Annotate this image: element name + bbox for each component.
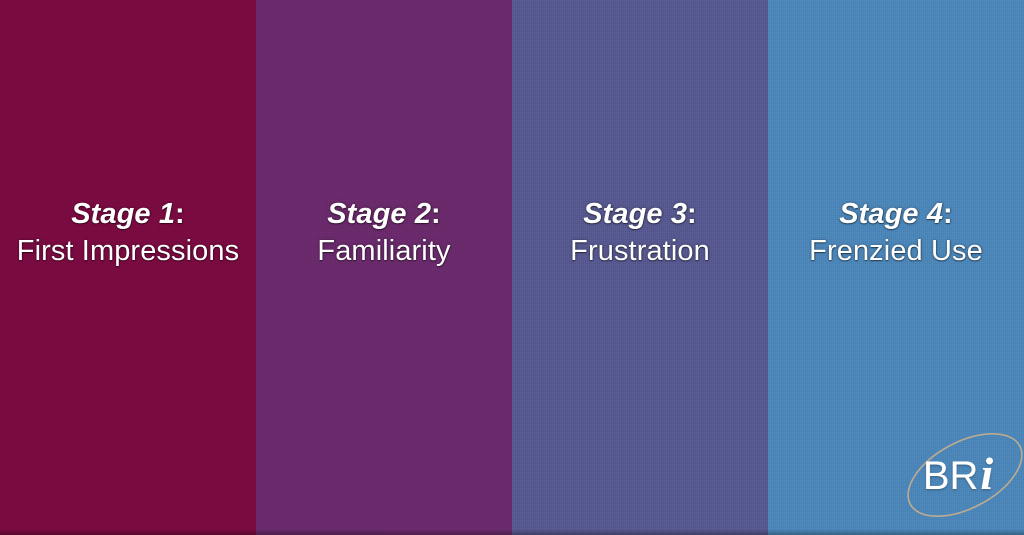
slide-canvas: Stage 1: First Impressions Stage 2: Fami… [0,0,1024,535]
stage-panel-3[interactable]: Stage 3: Frustration [512,0,768,535]
bri-logo-text: BRi [923,454,993,496]
stage-panel-1-colon: : [175,198,185,230]
stage-panel-3-colon: : [687,198,697,230]
stage-panel-1-name: First Impressions [17,235,239,267]
stage-panel-1-text: Stage 1: First Impressions [0,196,256,270]
stage-panel-2-text: Stage 2: Familiarity [256,196,512,270]
bri-logo[interactable]: BRi [890,421,1024,529]
stage-panel-4-text: Stage 4: Frenzied Use [768,196,1024,270]
stage-panel-2-colon: : [431,198,441,230]
stage-panel-3-text: Stage 3: Frustration [512,196,768,270]
stage-panel-4-label: Stage 4 [839,198,943,230]
bri-logo-br: BR [923,454,979,498]
stage-panel-2-label: Stage 2 [327,198,431,230]
stage-panel-1-label: Stage 1 [71,198,175,230]
stage-panel-1[interactable]: Stage 1: First Impressions [0,0,256,535]
stage-panel-4-colon: : [943,198,953,230]
stage-panel-2-name: Familiarity [317,235,450,267]
stage-panel-3-name: Frustration [570,235,710,267]
stage-panel-4-name: Frenzied Use [809,235,983,267]
bri-logo-i: i [980,448,993,499]
stage-panel-3-label: Stage 3 [583,198,687,230]
stage-panel-2[interactable]: Stage 2: Familiarity [256,0,512,535]
bri-logo-wordmark: BRi [890,421,1024,529]
